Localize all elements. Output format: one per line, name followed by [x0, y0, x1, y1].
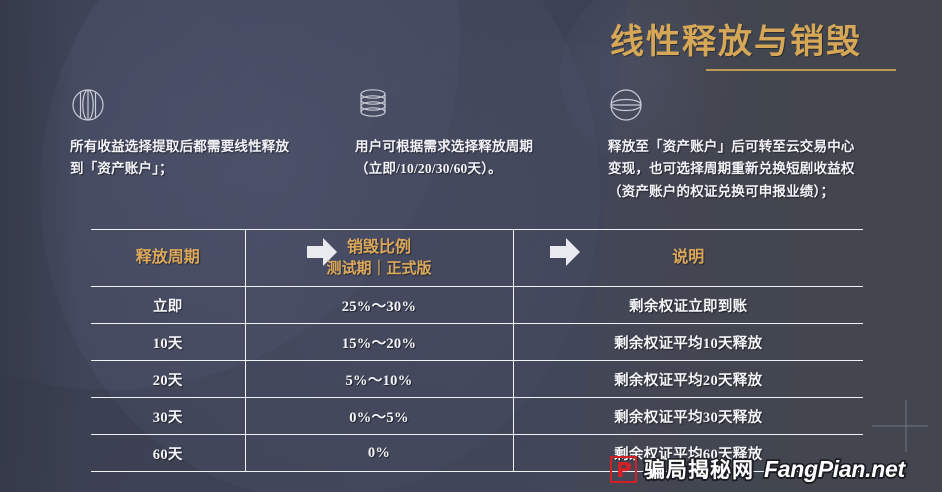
- cell-ratio: 5%～10%: [245, 361, 513, 398]
- cell-period: 20天: [91, 361, 245, 398]
- watermark-cn-text: 骗局揭秘网: [644, 454, 754, 484]
- cell-period: 立即: [91, 287, 245, 324]
- step-item-1: 所有收益选择提取后都需要线性释放到「资产账户」；: [70, 86, 300, 181]
- globe-vertical-meridians-icon: [70, 86, 300, 124]
- cell-ratio: 15%～20%: [245, 324, 513, 361]
- cell-note: 剩余权证平均10天释放: [513, 324, 863, 361]
- background-left-sheen: [0, 0, 80, 492]
- table-header-period-label: 释放周期: [136, 249, 200, 266]
- table-header-note: 说明: [513, 230, 863, 287]
- table-header-burn-ratio-sublabel: 测试期｜正式版: [246, 259, 513, 281]
- cell-ratio: 0%～5%: [245, 398, 513, 435]
- slide-canvas: 线性释放与销毁 所有收益选择提取后都需要线性释放到「资产账户」；: [0, 0, 942, 492]
- release-schedule-table: 释放周期 销毁比例 测试期｜正式版 说明 立即 25%～30% 剩余权证立即到账: [91, 229, 863, 465]
- fangpian-p-logo-icon: [610, 456, 637, 483]
- stacked-coins-icon: [355, 86, 540, 124]
- registration-crosshair-icon: [872, 400, 928, 452]
- step-text-3: 释放至「资产账户」后可转至云交易中心变现，也可选择周期重新兑换短剧收益权（资产账…: [608, 136, 866, 203]
- title-underline-rule: [706, 69, 896, 71]
- step-item-2: 用户可根据需求选择释放周期（立即/10/20/30/60天）。: [355, 86, 540, 181]
- step-item-3: 释放至「资产账户」后可转至云交易中心变现，也可选择周期重新兑换短剧收益权（资产账…: [608, 86, 866, 203]
- table-header-burn-ratio: 销毁比例 测试期｜正式版: [245, 230, 513, 287]
- table-header-period: 释放周期: [91, 230, 245, 287]
- step-text-2: 用户可根据需求选择释放周期（立即/10/20/30/60天）。: [355, 136, 540, 181]
- steps-row: 所有收益选择提取后都需要线性释放到「资产账户」； 用户可根据需求选择释放周期（立…: [0, 86, 942, 226]
- cell-note: 剩余权证平均30天释放: [513, 398, 863, 435]
- step-text-1: 所有收益选择提取后都需要线性释放到「资产账户」；: [70, 136, 300, 181]
- table-header-row: 释放周期 销毁比例 测试期｜正式版 说明: [91, 230, 863, 287]
- cell-note: 剩余权证平均20天释放: [513, 361, 863, 398]
- cell-ratio: 0%: [245, 435, 513, 472]
- watermark-en-text: FangPian.net: [764, 456, 905, 483]
- cell-note: 剩余权证立即到账: [513, 287, 863, 324]
- table-row: 30天 0%～5% 剩余权证平均30天释放: [91, 398, 863, 435]
- table-row: 立即 25%～30% 剩余权证立即到账: [91, 287, 863, 324]
- table-header-burn-ratio-label: 销毁比例: [347, 239, 411, 256]
- cell-period: 10天: [91, 324, 245, 361]
- cell-ratio: 25%～30%: [245, 287, 513, 324]
- table-row: 20天 5%～10% 剩余权证平均20天释放: [91, 361, 863, 398]
- sphere-horizontal-lines-icon: [608, 86, 866, 124]
- cell-period: 60天: [91, 435, 245, 472]
- watermark: 骗局揭秘网 FangPian.net: [610, 454, 905, 484]
- table-row: 10天 15%～20% 剩余权证平均10天释放: [91, 324, 863, 361]
- cell-period: 30天: [91, 398, 245, 435]
- title-block: 线性释放与销毁: [610, 24, 920, 71]
- page-title: 线性释放与销毁: [610, 24, 920, 61]
- table-header-note-label: 说明: [672, 249, 704, 266]
